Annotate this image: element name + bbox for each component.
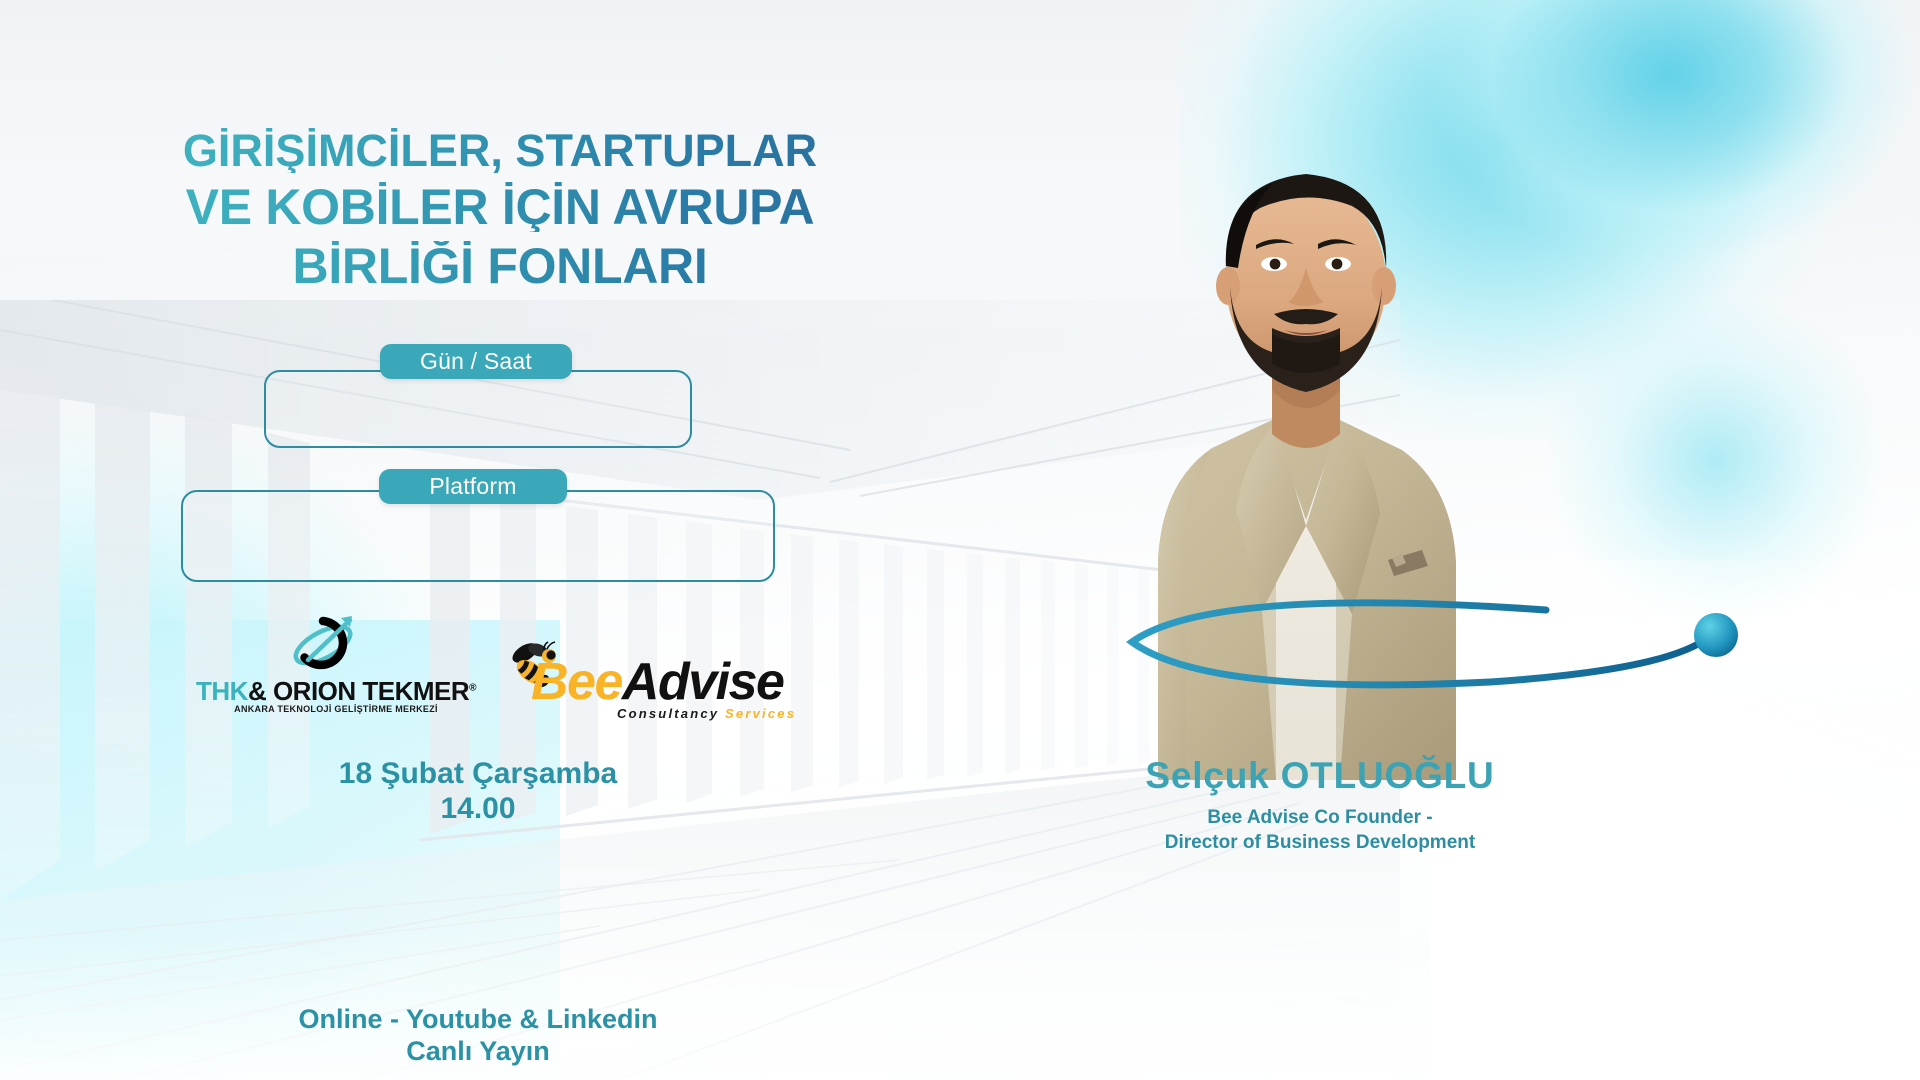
bee-tagline-yellow: Services — [725, 706, 796, 721]
speaker-role: Bee Advise Co Founder - Director of Busi… — [1010, 805, 1630, 855]
orbit-ring-decoration — [1110, 590, 1770, 700]
title-line-2: VE KOBİLER İÇİN AVRUPA — [150, 182, 850, 232]
thk-wordmark: THK& ORION TEKMER® — [196, 676, 476, 707]
bee-wordmark-black: Advise — [622, 653, 784, 711]
title-line-3: BİRLİĞİ FONLARI — [150, 241, 850, 291]
platform-value: Online - Youtube & Linkedin Canlı Yayın — [183, 1004, 773, 1068]
bee-advise-wordmark: BeeAdvise — [531, 652, 783, 712]
platform-value-line-2: Canlı Yayın — [183, 1036, 773, 1068]
speaker-role-line-1: Bee Advise Co Founder - — [1010, 805, 1630, 830]
platform-badge-label: Platform — [379, 469, 567, 504]
bee-tagline-black: Consultancy — [617, 706, 719, 721]
orion-planet-icon — [284, 612, 362, 674]
title-line-1: GİRİŞİMCİLER, STARTUPLAR — [150, 128, 850, 173]
registered-mark: ® — [469, 682, 476, 693]
date-badge-label: Gün / Saat — [380, 344, 572, 379]
date-info-box: 18 Şubat Çarşamba 14.00 — [264, 370, 692, 448]
thk-tagline: ANKARA TEKNOLOJİ GELİŞTİRME MERKEZİ — [196, 704, 476, 714]
speaker-role-line-2: Director of Business Development — [1010, 830, 1630, 855]
logo-bee-advise: BeeAdvise Consultancy Services — [505, 640, 785, 730]
date-value-line-2: 14.00 — [266, 791, 690, 826]
poster-canvas: GİRİŞİMCİLER, STARTUPLAR VE KOBİLER İÇİN… — [0, 0, 1920, 1080]
platform-value-line-1: Online - Youtube & Linkedin — [183, 1004, 773, 1036]
page-title: GİRİŞİMCİLER, STARTUPLAR VE KOBİLER İÇİN… — [150, 128, 850, 291]
thk-wordmark-teal: THK — [196, 676, 248, 706]
date-value: 18 Şubat Çarşamba 14.00 — [266, 756, 690, 827]
speaker-name: Selçuk OTLUOĞLU — [1010, 755, 1630, 797]
thk-wordmark-black: & ORION TEKMER — [248, 676, 469, 706]
date-value-line-1: 18 Şubat Çarşamba — [266, 756, 690, 791]
logo-thk-orion-tekmer: THK& ORION TEKMER® ANKARA TEKNOLOJİ GELİ… — [196, 612, 476, 717]
bee-advise-tagline: Consultancy Services — [617, 706, 796, 721]
bee-wordmark-yellow: Bee — [531, 653, 622, 711]
